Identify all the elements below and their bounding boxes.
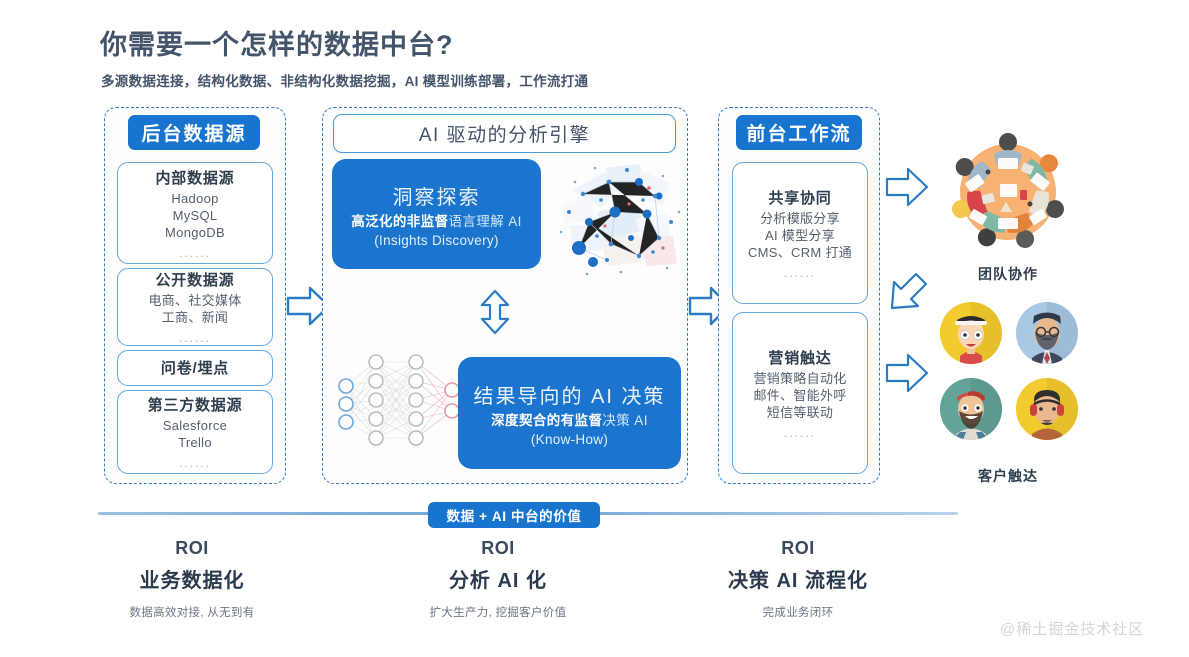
card-line: 营销策略自动化 — [753, 370, 846, 387]
arrow-updown-engine-link — [475, 288, 515, 336]
roi-column-business: ROI 业务数据化 数据高效对接, 从无到有 — [62, 538, 322, 620]
team-collaboration-illustration — [944, 128, 1072, 256]
arrow-right-to-team — [884, 164, 930, 210]
slide-canvas: 你需要一个怎样的数据中台? 多源数据连接，结构化数据、非结构化数据挖掘，AI 模… — [0, 0, 1189, 657]
card-shared-collaboration[interactable]: 共享协同 分析模版分享 AI 模型分享 CMS、CRM 打通 ...... — [732, 162, 868, 304]
roi-tag: ROI — [62, 538, 322, 559]
card-line: 分析模版分享 — [760, 210, 840, 227]
box-subtitle: 深度契合的有监督决策 AI — [491, 412, 648, 430]
value-badge: 数据 + AI 中台的价值 — [428, 502, 600, 528]
box-subtitle-light: 语言理解 AI — [449, 214, 522, 229]
box-title: 洞察探索 — [393, 181, 481, 210]
card-line: MySQL — [173, 207, 218, 224]
card-public-data-source[interactable]: 公开数据源 电商、社交媒体 工商、新闻 ...... — [117, 268, 273, 346]
card-title: 营销触达 — [768, 347, 831, 368]
card-ellipsis: ...... — [784, 426, 816, 440]
card-line: 邮件、智能外呼 — [753, 387, 846, 404]
card-line: MongoDB — [165, 224, 225, 241]
panel-header-workflow: 前台工作流 — [736, 115, 862, 150]
card-ellipsis: ...... — [179, 246, 211, 260]
card-title: 问卷/埋点 — [161, 357, 229, 378]
roi-description: 扩大生产力, 挖掘客户价值 — [368, 604, 628, 620]
roi-tag: ROI — [668, 538, 928, 559]
roi-description: 完成业务闭环 — [668, 604, 928, 620]
card-line: CMS、CRM 打通 — [748, 244, 852, 261]
roi-description: 数据高效对接, 从无到有 — [62, 604, 322, 620]
card-line: 电商、社交媒体 — [148, 292, 241, 309]
box-english-label: (Know-How) — [531, 432, 608, 447]
avatar-customer-3 — [940, 378, 1002, 440]
caption-team-collaboration: 团队协作 — [928, 264, 1088, 284]
box-subtitle: 高泛化的非监督语言理解 AI — [351, 213, 522, 231]
card-line: 工商、新闻 — [162, 309, 229, 326]
box-title: 结果导向的 AI 决策 — [473, 380, 665, 409]
avatar-customer-2 — [1016, 302, 1078, 364]
card-marketing-outreach[interactable]: 营销触达 营销策略自动化 邮件、智能外呼 短信等联动 ...... — [732, 312, 868, 474]
page-subtitle: 多源数据连接，结构化数据、非结构化数据挖掘，AI 模型训练部署，工作流打通 — [101, 70, 588, 90]
card-line: Trello — [178, 434, 212, 451]
card-title: 内部数据源 — [155, 167, 234, 188]
card-line: AI 模型分享 — [765, 227, 835, 244]
card-third-party-data-source[interactable]: 第三方数据源 Salesforce Trello ...... — [117, 390, 273, 474]
card-title: 第三方数据源 — [148, 394, 243, 415]
box-english-label: (Insights Discovery) — [374, 233, 499, 248]
roi-column-analysis: ROI 分析 AI 化 扩大生产力, 挖掘客户价值 — [368, 538, 628, 620]
watermark: @稀土掘金技术社区 — [1000, 618, 1144, 639]
neural-network-illustration — [330, 348, 470, 460]
avatar-customer-4 — [1016, 378, 1078, 440]
card-survey-tracking[interactable]: 问卷/埋点 — [117, 350, 273, 386]
roi-tag: ROI — [368, 538, 628, 559]
box-subtitle-light: 决策 AI — [602, 413, 648, 428]
network-graph-illustration — [543, 152, 688, 287]
card-line: Salesforce — [163, 417, 227, 434]
card-internal-data-source[interactable]: 内部数据源 Hadoop MySQL MongoDB ...... — [117, 162, 273, 264]
caption-customer-outreach: 客户触达 — [928, 466, 1088, 486]
page-title: 你需要一个怎样的数据中台? — [100, 23, 454, 62]
card-line: 短信等联动 — [767, 404, 834, 421]
avatar-customer-1 — [940, 302, 1002, 364]
card-ellipsis: ...... — [179, 456, 211, 470]
customer-avatars-group — [940, 302, 1080, 448]
card-ellipsis: ...... — [179, 331, 211, 345]
arrow-right-to-customers — [884, 350, 930, 396]
card-ellipsis: ...... — [784, 266, 816, 280]
box-insight-discovery[interactable]: 洞察探索 高泛化的非监督语言理解 AI (Insights Discovery) — [332, 159, 541, 269]
roi-headline: 业务数据化 — [62, 564, 322, 593]
card-line: Hadoop — [171, 190, 218, 207]
roi-headline: 决策 AI 流程化 — [668, 564, 928, 593]
roi-column-decision: ROI 决策 AI 流程化 完成业务闭环 — [668, 538, 928, 620]
roi-headline: 分析 AI 化 — [368, 564, 628, 593]
arrow-diagonal-down-left — [880, 268, 932, 320]
panel-header-ai-engine: AI 驱动的分析引擎 — [333, 114, 676, 153]
box-subtitle-bold: 深度契合的有监督 — [491, 413, 602, 428]
card-title: 公开数据源 — [155, 269, 234, 290]
box-subtitle-bold: 高泛化的非监督 — [351, 214, 448, 229]
panel-header-data-sources: 后台数据源 — [128, 115, 260, 150]
card-title: 共享协同 — [768, 187, 831, 208]
box-ai-decision[interactable]: 结果导向的 AI 决策 深度契合的有监督决策 AI (Know-How) — [458, 357, 681, 469]
